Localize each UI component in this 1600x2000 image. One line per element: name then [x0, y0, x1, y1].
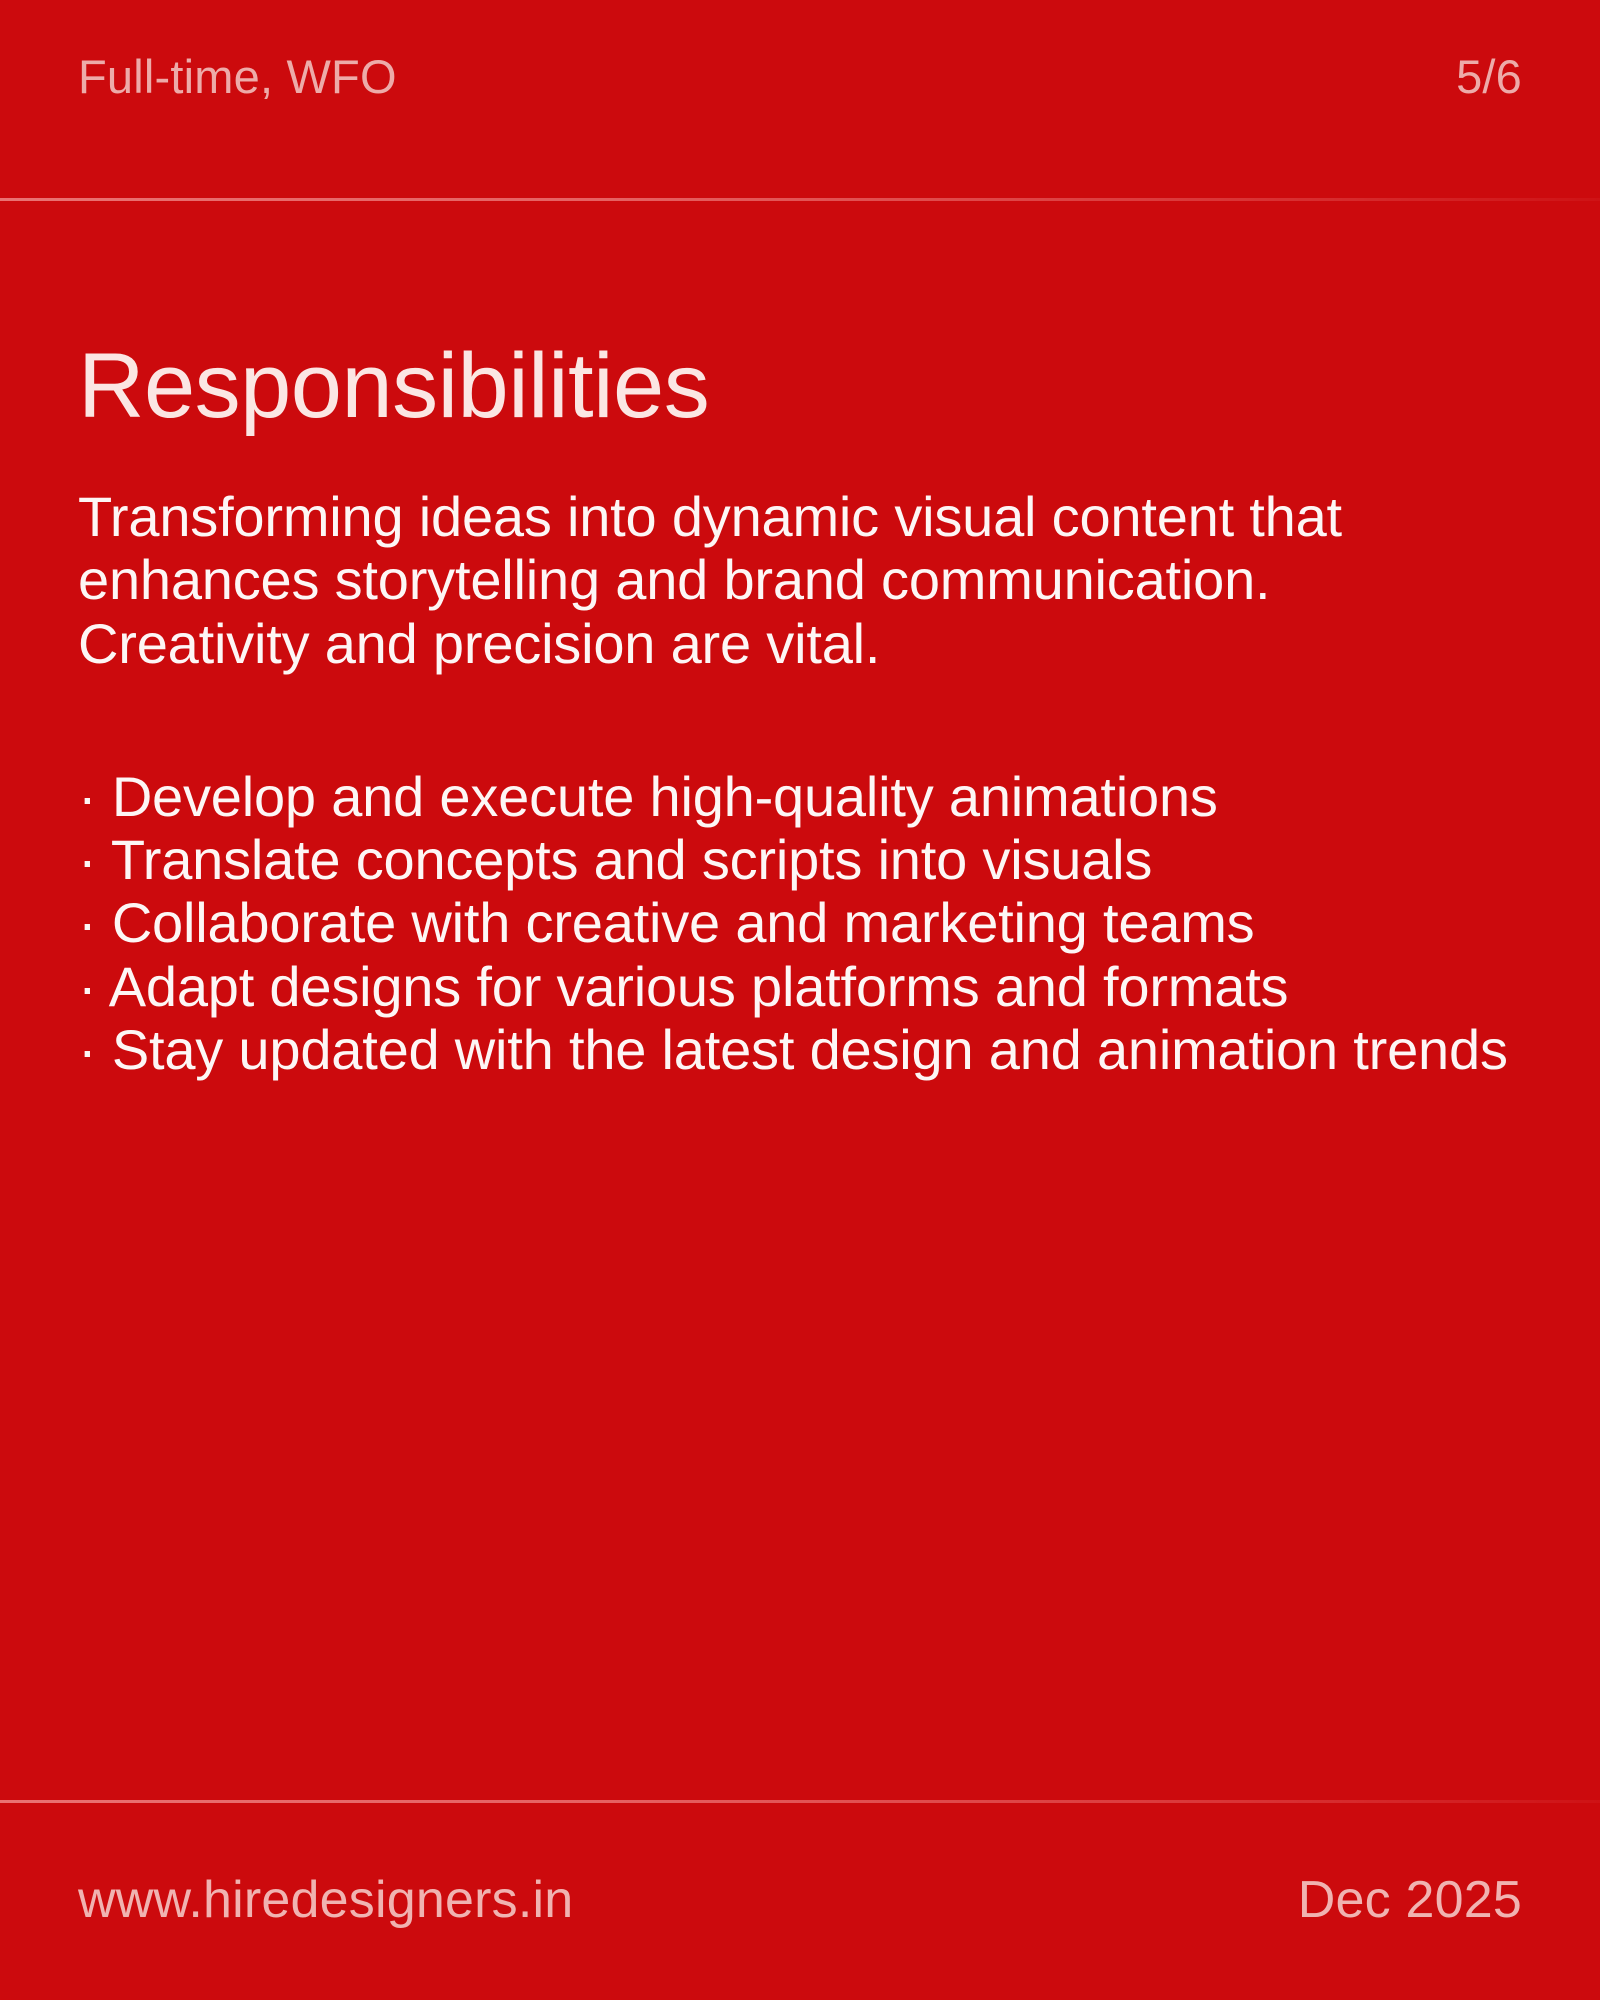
- bullet-marker-icon: ·: [78, 828, 96, 891]
- page-indicator: 5/6: [1456, 52, 1522, 101]
- list-item-label: Stay updated with the latest design and …: [112, 1018, 1508, 1081]
- list-item-label: Translate concepts and scripts into visu…: [111, 828, 1152, 891]
- bullet-marker-icon: ·: [78, 1018, 96, 1081]
- slide-content: Responsibilities Transforming ideas into…: [78, 340, 1528, 1081]
- header-divider: [0, 198, 1600, 201]
- bullet-marker-icon: ·: [78, 955, 96, 1018]
- bullet-marker-icon: ·: [78, 765, 96, 828]
- job-posting-slide: Full-time, WFO 5/6 Responsibilities Tran…: [0, 0, 1600, 2000]
- list-item: · Translate concepts and scripts into vi…: [78, 828, 1508, 891]
- employment-type-label: Full-time, WFO: [78, 52, 397, 101]
- list-item: · Develop and execute high-quality anima…: [78, 765, 1508, 828]
- bullet-marker-icon: ·: [78, 891, 96, 954]
- page-title: Responsibilities: [78, 340, 1528, 432]
- intro-paragraph: Transforming ideas into dynamic visual c…: [78, 432, 1468, 675]
- list-item-label: Adapt designs for various platforms and …: [109, 955, 1289, 1018]
- slide-header: Full-time, WFO 5/6: [0, 0, 1600, 199]
- website-link[interactable]: www.hiredesigners.in: [78, 1873, 573, 1928]
- posting-date: Dec 2025: [1298, 1873, 1522, 1928]
- responsibilities-list: · Develop and execute high-quality anima…: [78, 675, 1508, 1081]
- slide-footer: www.hiredesigners.in Dec 2025: [0, 1800, 1600, 2000]
- list-item-label: Collaborate with creative and marketing …: [112, 891, 1255, 954]
- list-item: · Collaborate with creative and marketin…: [78, 891, 1508, 954]
- list-item: · Adapt designs for various platforms an…: [78, 955, 1508, 1018]
- list-item-label: Develop and execute high-quality animati…: [112, 765, 1218, 828]
- list-item: · Stay updated with the latest design an…: [78, 1018, 1508, 1081]
